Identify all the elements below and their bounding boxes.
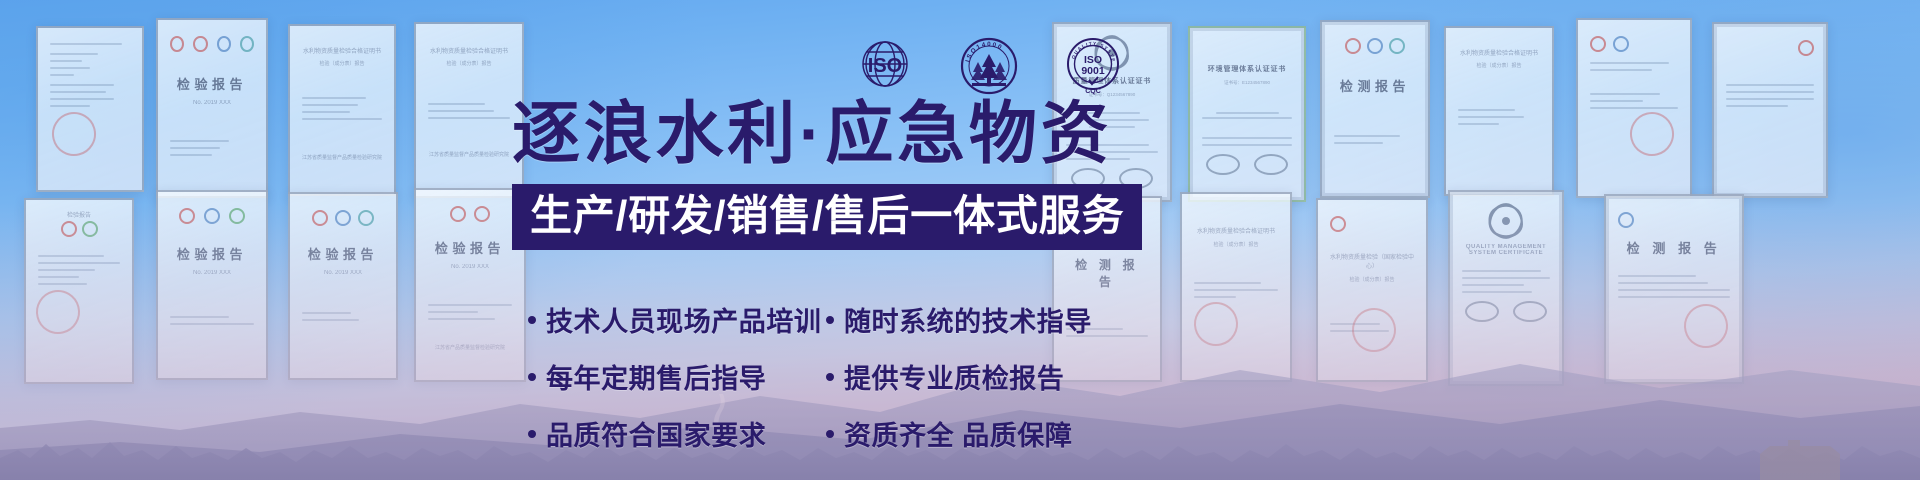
- certificate-card: 水利物资质量检验合格证明书 检验（成分表）报告 江苏省质量监督产品质量检验研究院: [288, 24, 396, 196]
- iso-9001-badge: QUALITY SYSTEM ISO 9001 CQC: [1063, 36, 1119, 92]
- certificate-card: 环境管理体系认证证书 证书号：E1234567890: [1188, 26, 1306, 202]
- page-title: 逐浪水利·应急物资: [512, 100, 1142, 168]
- certificate-card: 检验报告: [24, 198, 134, 384]
- iaf-logo-icon: [1513, 301, 1547, 322]
- certificate-title: 水利物资质量检验合格证明书: [1458, 48, 1540, 57]
- ccc-mark-icon: [179, 208, 195, 224]
- certificate-title: 检 测 报 告: [1066, 256, 1148, 290]
- feature-list: 技术人员现场产品培训 随时系统的技术指导 每年定期售后指导 提供专业质检报告 品…: [528, 300, 1092, 453]
- certificate-title: 环境管理体系认证证书: [1202, 64, 1292, 74]
- iso-globe-badge: ISO: [855, 36, 911, 92]
- certificate-title: 检验报告: [38, 210, 120, 219]
- certificate-subtitle: No. 2019 XXX: [428, 264, 512, 270]
- certification-badge-row: ISO ISO14000: [855, 36, 1119, 92]
- ca-mark-icon: [312, 210, 328, 226]
- certificate-subtitle: 检验（成分表）报告: [1458, 62, 1540, 69]
- certificate-card: 检测报告: [1320, 20, 1430, 198]
- ccc-mark-icon: [61, 221, 77, 237]
- iaf-logo-icon: [1254, 154, 1288, 175]
- certificate-footer: 江苏省质量监督产品质量检验研究院: [302, 154, 382, 161]
- green-mark-icon: [82, 221, 98, 237]
- cqc-label: CQC: [1085, 88, 1101, 95]
- ccc-mark-icon: [1798, 40, 1814, 56]
- certificate-card: [36, 26, 144, 192]
- ccc-mark-icon: [170, 36, 184, 52]
- cnas-logo-icon: [1465, 301, 1499, 322]
- certificate-card: 检 测 报 告: [1604, 194, 1744, 384]
- bullet-dot-icon: [528, 316, 536, 324]
- certificate-subtitle: No. 2019 XXX: [170, 100, 254, 106]
- iso-14000-badge: ISO14000: [959, 36, 1015, 92]
- feature-label: 技术人员现场产品培训: [546, 300, 821, 339]
- feature-label: 品质符合国家要求: [546, 414, 766, 453]
- certificate-card: 水利物资质量检验合格证明书 检验（成分表）报告 江苏省质量监督产品质量检验研究院: [414, 22, 524, 198]
- bullet-dot-icon: [528, 373, 536, 381]
- ccc-mark-icon: [1330, 216, 1346, 232]
- certificate-subtitle: No. 2019 XXX: [170, 270, 254, 276]
- svg-text:ISO14000: ISO14000: [964, 41, 1004, 63]
- headline-block: 逐浪水利·应急物资 生产/研发/销售/售后一体式服务: [512, 100, 1142, 250]
- certificate-card: [1576, 18, 1692, 198]
- atom-logo-icon: [1489, 204, 1523, 238]
- cqc-mark-icon: [1618, 212, 1634, 228]
- certificate-subtitle: SYSTEM CERTIFICATE: [1462, 250, 1550, 256]
- feature-item: 每年定期售后指导: [528, 357, 806, 396]
- sgs-mark-icon: [240, 36, 254, 52]
- certificate-title: 检 测 报 告: [1618, 238, 1730, 257]
- certificate-subtitle: 检验（成分表）报告: [1330, 276, 1414, 283]
- certificate-title: 检验报告: [170, 74, 254, 93]
- check-icon: [1089, 77, 1098, 84]
- certificate-subtitle: No. 2019 XXX: [302, 270, 384, 276]
- cqc-mark-icon: [1367, 38, 1383, 54]
- green-mark-icon: [229, 208, 245, 224]
- ccc-mark-icon: [450, 206, 466, 222]
- certificate-title: 检验报告: [302, 244, 384, 263]
- certificate-card: 检验报告 No. 2019 XXX: [288, 192, 398, 380]
- ccc-mark-icon: [1345, 38, 1361, 54]
- bullet-dot-icon: [826, 373, 834, 381]
- certificate-footer: 江苏省产品质量监督检验研究院: [428, 344, 512, 351]
- certificate-card: 检验报告 No. 2019 XXX: [156, 18, 268, 198]
- certificate-title: 水利物资质量检验合格证明书: [1194, 226, 1278, 235]
- cqc-mark-icon: [1613, 36, 1629, 52]
- certificate-card: [1712, 22, 1828, 198]
- sgs-mark-icon: [358, 210, 374, 226]
- feature-item: 随时系统的技术指导: [826, 300, 1092, 339]
- feature-label: 提供专业质检报告: [844, 357, 1064, 396]
- feature-label: 资质齐全 品质保障: [844, 414, 1072, 453]
- iso-9001-line2: 9001: [1081, 65, 1105, 77]
- subtitle-banner: 生产/研发/销售/售后一体式服务: [512, 184, 1142, 250]
- cnas-logo-icon: [1206, 154, 1240, 175]
- certificate-card: 检验报告 No. 2019 XXX: [156, 190, 268, 380]
- certificate-card: 水利物资质量检验（国家检验中心） 检验（成分表）报告: [1316, 198, 1428, 382]
- certificate-card: 水利物资质量检验合格证明书 检验（成分表）报告: [1444, 26, 1554, 196]
- ca-mark-icon: [1590, 36, 1606, 52]
- certificate-title: 水利物资质量检验（国家检验中心）: [1330, 252, 1414, 270]
- iso-14000-ring-label: ISO14000: [964, 41, 1004, 63]
- certificate-title: 检验报告: [428, 238, 512, 257]
- certificate-title: 水利物资质量检验合格证明书: [428, 46, 510, 55]
- bullet-dot-icon: [826, 430, 834, 438]
- certificate-title: 检测报告: [1334, 76, 1416, 95]
- ca-mark-icon: [474, 206, 490, 222]
- sgs-mark-icon: [1389, 38, 1405, 54]
- certificate-title: 检验报告: [170, 244, 254, 263]
- feature-label: 每年定期售后指导: [546, 357, 766, 396]
- certificate-card: 检验报告 No. 2019 XXX 江苏省产品质量监督检验研究院: [414, 188, 526, 382]
- feature-item: 资质齐全 品质保障: [826, 414, 1092, 453]
- cqc-mark-icon: [217, 36, 231, 52]
- feature-item: 技术人员现场产品培训: [528, 300, 806, 339]
- feature-item: 提供专业质检报告: [826, 357, 1092, 396]
- certificate-title: 水利物资质量检验合格证明书: [302, 46, 382, 55]
- certificate-footer: 江苏省质量监督产品质量检验研究院: [428, 151, 510, 158]
- ca-mark-icon: [193, 36, 207, 52]
- certificate-card: 水利物资质量检验合格证明书 检验（成分表）报告: [1180, 192, 1292, 382]
- certificate-subtitle: 检验（成分表）报告: [1194, 241, 1278, 248]
- iso-globe-label: ISO: [868, 55, 902, 77]
- bullet-dot-icon: [826, 316, 834, 324]
- certificate-subtitle: 证书号：E1234567890: [1202, 80, 1292, 86]
- promo-banner: 检验报告 No. 2019 XXX 水利物资质量检验合格证明书 检验（成分表）报…: [0, 0, 1920, 480]
- cqc-mark-icon: [204, 208, 220, 224]
- certificate-subtitle: 检验（成分表）报告: [302, 60, 382, 67]
- certificate-card: QUALITY MANAGEMENT SYSTEM CERTIFICATE: [1448, 190, 1564, 386]
- bullet-dot-icon: [528, 430, 536, 438]
- feature-label: 随时系统的技术指导: [844, 300, 1092, 339]
- feature-item: 品质符合国家要求: [528, 414, 806, 453]
- cqc-mark-icon: [335, 210, 351, 226]
- certificate-subtitle: 检验（成分表）报告: [428, 60, 510, 67]
